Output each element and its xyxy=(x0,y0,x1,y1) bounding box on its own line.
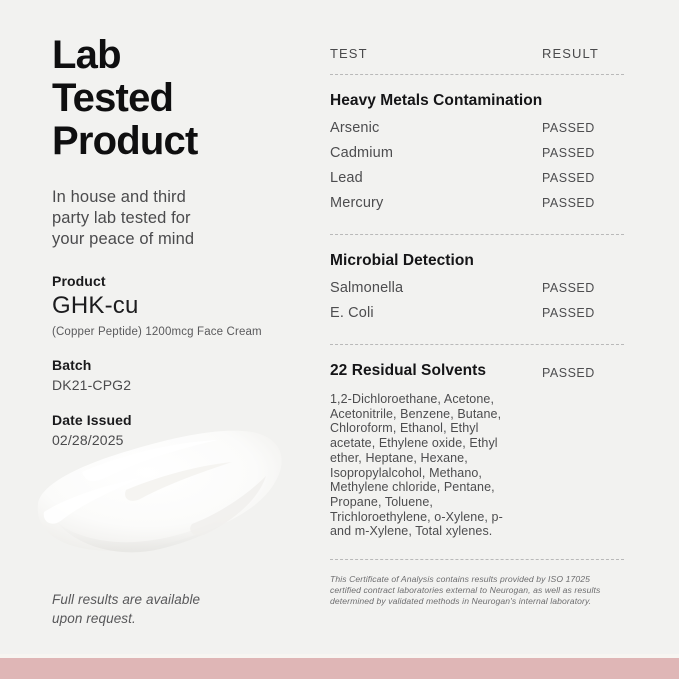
test-name: Mercury xyxy=(330,193,383,214)
section-title: 22 Residual Solvents xyxy=(330,361,486,381)
section-heavy-metals: Heavy Metals Contamination Arsenic PASSE… xyxy=(330,91,624,214)
bottom-accent-band xyxy=(0,658,679,679)
column-header-test: TEST xyxy=(330,46,368,61)
table-row: Mercury PASSED xyxy=(330,193,624,214)
left-panel: Lab Tested Product In house and third pa… xyxy=(52,34,310,450)
certificate-of-analysis-page: Lab Tested Product In house and third pa… xyxy=(0,0,679,679)
full-results-note-line-2: upon request. xyxy=(52,609,302,628)
divider-footer xyxy=(330,559,624,560)
product-label: Product xyxy=(52,272,310,290)
page-subtitle: In house and third party lab tested for … xyxy=(52,187,310,250)
page-title-line-3: Product xyxy=(52,120,310,163)
product-description: (Copper Peptide) 1200mcg Face Cream xyxy=(52,324,310,340)
status-badge: PASSED xyxy=(542,168,624,189)
test-name: Cadmium xyxy=(330,143,393,164)
page-title-line-1: Lab xyxy=(52,34,310,77)
section-microbial-detection: Microbial Detection Salmonella PASSED E.… xyxy=(330,251,624,324)
divider-microbial xyxy=(330,344,624,345)
status-badge: PASSED xyxy=(542,118,624,139)
page-subtitle-line-2: party lab tested for xyxy=(52,208,310,229)
test-name: Lead xyxy=(330,168,363,189)
section-title: Microbial Detection xyxy=(330,251,624,271)
disclaimer-line-1: This Certificate of Analysis contains re… xyxy=(330,574,626,585)
status-badge: PASSED xyxy=(542,361,624,380)
page-title-line-2: Tested xyxy=(52,77,310,120)
product-name: GHK-cu xyxy=(52,291,310,320)
column-header-result: RESULT xyxy=(542,46,624,61)
table-row: Lead PASSED xyxy=(330,168,624,189)
full-results-note: Full results are available upon request. xyxy=(52,590,302,628)
batch-label: Batch xyxy=(52,356,310,374)
page-subtitle-line-1: In house and third xyxy=(52,187,310,208)
status-badge: PASSED xyxy=(542,143,624,164)
status-badge: PASSED xyxy=(542,278,624,299)
batch-field: Batch DK21-CPG2 xyxy=(52,356,310,395)
divider-header xyxy=(330,74,624,75)
results-table-header: TEST RESULT xyxy=(330,46,624,61)
table-row: Arsenic PASSED xyxy=(330,118,624,139)
section-rows: Arsenic PASSED Cadmium PASSED Lead PASSE… xyxy=(330,118,624,214)
table-row: E. Coli PASSED xyxy=(330,303,624,324)
test-name: Arsenic xyxy=(330,118,379,139)
page-title: Lab Tested Product xyxy=(52,34,310,163)
full-results-note-line-1: Full results are available xyxy=(52,590,302,609)
results-panel: TEST RESULT Heavy Metals Contamination A… xyxy=(330,46,624,608)
cream-swatch-icon xyxy=(22,412,302,572)
status-badge: PASSED xyxy=(542,303,624,324)
page-subtitle-line-3: your peace of mind xyxy=(52,229,310,250)
section-rows: Salmonella PASSED E. Coli PASSED xyxy=(330,278,624,324)
test-name: E. Coli xyxy=(330,303,374,324)
solvent-list: 1,2-Dichloroethane, Acetone, Acetonitril… xyxy=(330,392,512,539)
test-name: Salmonella xyxy=(330,278,403,299)
divider-heavy-metals xyxy=(330,234,624,235)
disclaimer-line-2: certified contract laboratories external… xyxy=(330,585,626,596)
status-badge: PASSED xyxy=(542,193,624,214)
batch-value: DK21-CPG2 xyxy=(52,376,310,395)
table-row: Salmonella PASSED xyxy=(330,278,624,299)
disclaimer-line-3: determined by validated methods in Neuro… xyxy=(330,596,626,607)
cream-swatch-image xyxy=(22,412,302,572)
table-row: Cadmium PASSED xyxy=(330,143,624,164)
disclaimer-text: This Certificate of Analysis contains re… xyxy=(330,574,626,608)
section-residual-solvents: 22 Residual Solvents PASSED 1,2-Dichloro… xyxy=(330,361,624,539)
product-field: Product GHK-cu (Copper Peptide) 1200mcg … xyxy=(52,272,310,340)
section-title: Heavy Metals Contamination xyxy=(330,91,624,111)
section-header-row: 22 Residual Solvents PASSED xyxy=(330,361,624,381)
